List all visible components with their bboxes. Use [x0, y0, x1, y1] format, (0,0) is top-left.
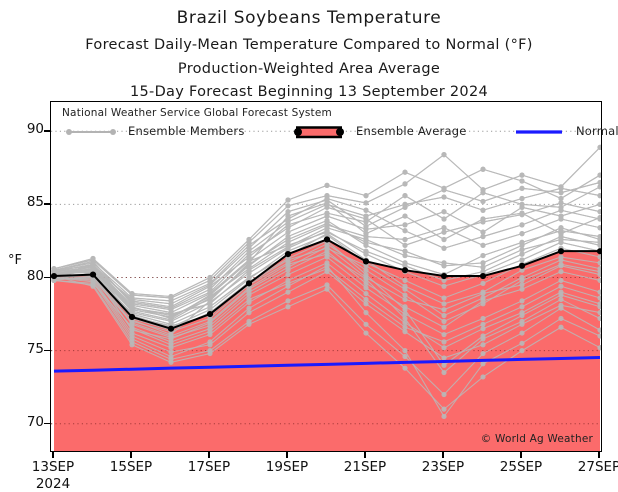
member-point-overlay: [168, 333, 173, 338]
member-point-overlay: [480, 199, 485, 204]
member-point-overlay: [480, 361, 485, 366]
member-point-overlay: [285, 262, 290, 267]
ensemble-average-point: [441, 273, 447, 279]
member-point-overlay: [519, 178, 524, 183]
ensemble-average-point: [207, 311, 213, 317]
ensemble-average-point: [402, 267, 408, 273]
member-point-overlay: [441, 370, 446, 375]
member-point-overlay: [441, 194, 446, 199]
x-tick-mark: [52, 452, 53, 458]
member-point-overlay: [402, 366, 407, 371]
member-point-overlay: [558, 234, 563, 239]
ensemble-average-point: [129, 314, 135, 320]
ensemble-average-point: [324, 236, 330, 242]
member-point-overlay: [363, 200, 368, 205]
member-point-overlay: [558, 257, 563, 262]
chart-canvas: [51, 102, 602, 452]
chart-page: Brazil Soybeans Temperature Forecast Dai…: [0, 0, 618, 488]
member-point-overlay: [246, 271, 251, 276]
member-point-overlay: [597, 193, 602, 198]
x-tick-mark: [130, 452, 131, 458]
member-point-overlay: [285, 209, 290, 214]
y-axis-label: °F: [8, 253, 22, 268]
x-tick-label: 27SEP: [559, 459, 618, 475]
member-point-overlay: [519, 341, 524, 346]
member-point-overlay: [168, 342, 173, 347]
member-point-overlay: [402, 325, 407, 330]
member-point-overlay: [597, 209, 602, 214]
member-point-overlay: [363, 193, 368, 198]
member-point-overlay: [480, 167, 485, 172]
member-point-overlay: [519, 222, 524, 227]
member-point-overlay: [285, 237, 290, 242]
member-point-overlay: [402, 287, 407, 292]
member-point-overlay: [441, 216, 446, 221]
member-point-overlay: [90, 284, 95, 289]
member-point-overlay: [363, 291, 368, 296]
member-point-overlay: [246, 306, 251, 311]
member-point-overlay: [363, 208, 368, 213]
member-point-overlay: [207, 339, 212, 344]
member-point-overlay: [441, 332, 446, 337]
member-point-overlay: [441, 339, 446, 344]
member-point-overlay: [519, 243, 524, 248]
member-point-overlay: [168, 316, 173, 321]
member-point-overlay: [480, 208, 485, 213]
member-point-overlay: [129, 336, 134, 341]
member-point-overlay: [519, 298, 524, 303]
member-point-overlay: [441, 392, 446, 397]
member-point-overlay: [363, 213, 368, 218]
member-point-overlay: [207, 319, 212, 324]
member-point-overlay: [441, 152, 446, 157]
member-point-overlay: [441, 325, 446, 330]
member-point-overlay: [129, 320, 134, 325]
member-point-overlay: [402, 249, 407, 254]
member-point-overlay: [285, 230, 290, 235]
member-point-overlay: [441, 313, 446, 318]
member-point-overlay: [402, 292, 407, 297]
member-point-overlay: [129, 342, 134, 347]
member-point-overlay: [480, 260, 485, 265]
member-point-overlay: [285, 216, 290, 221]
member-point-overlay: [324, 196, 329, 201]
member-point-overlay: [285, 268, 290, 273]
member-point-overlay: [519, 319, 524, 324]
member-point-overlay: [441, 301, 446, 306]
member-point-overlay: [324, 266, 329, 271]
member-point-overlay: [168, 360, 173, 365]
member-point-overlay: [207, 284, 212, 289]
member-point-overlay: [285, 222, 290, 227]
member-point-overlay: [363, 227, 368, 232]
ensemble-average-point: [480, 273, 486, 279]
member-point-overlay: [324, 211, 329, 216]
member-point-overlay: [285, 290, 290, 295]
member-point-overlay: [558, 325, 563, 330]
member-point-overlay: [285, 243, 290, 248]
member-point-overlay: [597, 184, 602, 189]
x-tick-mark: [208, 452, 209, 458]
member-point-overlay: [441, 307, 446, 312]
x-tick-mark: [364, 452, 365, 458]
member-point-overlay: [558, 297, 563, 302]
y-axis-ticks: 7075808590: [4, 0, 44, 488]
member-point-overlay: [441, 237, 446, 242]
member-point-overlay: [363, 322, 368, 327]
member-point-overlay: [441, 263, 446, 268]
member-point-overlay: [441, 407, 446, 412]
member-point-overlay: [129, 298, 134, 303]
member-point-overlay: [480, 336, 485, 341]
member-point-overlay: [558, 186, 563, 191]
member-point-overlay: [246, 259, 251, 264]
member-point-overlay: [480, 190, 485, 195]
member-point-overlay: [168, 354, 173, 359]
y-tick-label: 75: [10, 341, 44, 357]
member-point-overlay: [402, 213, 407, 218]
ensemble-average-point: [168, 326, 174, 332]
member-point-overlay: [519, 275, 524, 280]
member-point-overlay: [597, 173, 602, 178]
member-point-overlay: [324, 183, 329, 188]
x-tick-label: 25SEP: [481, 459, 561, 475]
member-point-overlay: [129, 326, 134, 331]
member-point-overlay: [168, 294, 173, 299]
member-point-overlay: [480, 243, 485, 248]
ensemble-average-point: [285, 251, 291, 257]
member-point-overlay: [402, 193, 407, 198]
member-point-overlay: [285, 298, 290, 303]
x-tick-label: 17SEP: [169, 459, 249, 475]
member-point-overlay: [597, 202, 602, 207]
member-point-overlay: [363, 297, 368, 302]
member-point-overlay: [363, 276, 368, 281]
member-point-overlay: [402, 222, 407, 227]
y-tick-label: 85: [10, 194, 44, 210]
y-tick-label: 90: [10, 121, 44, 137]
subtitle-1: Forecast Daily-Mean Temperature Compared…: [0, 27, 618, 53]
member-point-overlay: [441, 414, 446, 419]
member-point-overlay: [558, 278, 563, 283]
x-tick-label: 21SEP: [325, 459, 405, 475]
member-point-overlay: [441, 246, 446, 251]
member-point-overlay: [324, 287, 329, 292]
member-point-overlay: [324, 221, 329, 226]
member-point-overlay: [519, 348, 524, 353]
ensemble-average-point: [519, 263, 525, 269]
member-point-overlay: [363, 330, 368, 335]
member-point-overlay: [519, 186, 524, 191]
member-point-overlay: [90, 265, 95, 270]
member-point-overlay: [441, 295, 446, 300]
member-point-overlay: [90, 256, 95, 261]
member-point-overlay: [519, 252, 524, 257]
member-point-overlay: [480, 219, 485, 224]
member-point-overlay: [285, 304, 290, 309]
member-point-overlay: [363, 240, 368, 245]
member-point-overlay: [441, 209, 446, 214]
member-point-overlay: [480, 290, 485, 295]
page-title: Brazil Soybeans Temperature: [0, 0, 618, 27]
member-point-overlay: [246, 243, 251, 248]
member-point-overlay: [402, 278, 407, 283]
ensemble-average-point: [363, 258, 369, 264]
member-point-overlay: [402, 316, 407, 321]
member-point-overlay: [519, 330, 524, 335]
member-point-overlay: [168, 304, 173, 309]
member-point-overlay: [558, 306, 563, 311]
member-point-overlay: [402, 304, 407, 309]
member-point-overlay: [324, 202, 329, 207]
ensemble-average-point: [90, 271, 96, 277]
x-tick-mark: [286, 452, 287, 458]
member-point-overlay: [480, 322, 485, 327]
member-point-overlay: [207, 329, 212, 334]
member-point-overlay: [519, 231, 524, 236]
member-point-overlay: [441, 319, 446, 324]
member-point-overlay: [324, 230, 329, 235]
member-point-overlay: [402, 354, 407, 359]
member-point-overlay: [129, 304, 134, 309]
member-point-overlay: [480, 281, 485, 286]
member-point-overlay: [597, 225, 602, 230]
y-tick-label: 80: [10, 268, 44, 284]
member-point-overlay: [441, 345, 446, 350]
member-point-overlay: [480, 316, 485, 321]
member-point-overlay: [519, 304, 524, 309]
member-point-overlay: [324, 252, 329, 257]
member-point-overlay: [519, 257, 524, 262]
subtitle-2: Production-Weighted Area Average: [0, 53, 618, 77]
x-tick-mark: [442, 452, 443, 458]
member-point-overlay: [480, 234, 485, 239]
member-point-overlay: [441, 363, 446, 368]
member-point-overlay: [441, 225, 446, 230]
member-point-overlay: [519, 196, 524, 201]
member-point-overlay: [480, 342, 485, 347]
member-point-overlay: [480, 374, 485, 379]
member-point-overlay: [519, 287, 524, 292]
member-point-overlay: [402, 228, 407, 233]
member-point-overlay: [207, 275, 212, 280]
x-tick-label: 13SEP: [13, 459, 93, 475]
y-tick-label: 70: [10, 414, 44, 430]
member-point-overlay: [363, 310, 368, 315]
member-point-overlay: [402, 202, 407, 207]
member-point-overlay: [519, 173, 524, 178]
member-point-overlay: [207, 292, 212, 297]
member-point-overlay: [519, 202, 524, 207]
ensemble-average-point: [558, 248, 564, 254]
member-point-overlay: [285, 197, 290, 202]
plot-area: © World Ag Weather: [50, 101, 602, 452]
member-point-overlay: [402, 170, 407, 175]
title-block: Brazil Soybeans Temperature Forecast Dai…: [0, 0, 618, 100]
member-point-overlay: [558, 316, 563, 321]
member-point-overlay: [402, 243, 407, 248]
member-point-overlay: [558, 284, 563, 289]
member-point-overlay: [558, 205, 563, 210]
member-point-overlay: [402, 181, 407, 186]
ensemble-average-point: [246, 280, 252, 286]
member-point-overlay: [480, 351, 485, 356]
member-point-overlay: [246, 237, 251, 242]
member-point-overlay: [402, 348, 407, 353]
ensemble-average-point: [51, 273, 57, 279]
member-point-overlay: [402, 237, 407, 242]
member-point-overlay: [519, 212, 524, 217]
member-point-overlay: [129, 291, 134, 296]
member-point-overlay: [558, 225, 563, 230]
member-point-overlay: [246, 322, 251, 327]
x-tick-mark: [598, 452, 599, 458]
x-tick-label: 23SEP: [403, 459, 483, 475]
credit-text: © World Ag Weather: [481, 433, 593, 445]
member-point-overlay: [558, 196, 563, 201]
member-point-overlay: [324, 246, 329, 251]
member-point-overlay: [480, 295, 485, 300]
member-point-overlay: [207, 351, 212, 356]
member-point-overlay: [558, 240, 563, 245]
member-point-overlay: [246, 297, 251, 302]
member-point-overlay: [363, 234, 368, 239]
member-point-overlay: [363, 219, 368, 224]
member-point-overlay: [246, 249, 251, 254]
member-point-overlay: [558, 269, 563, 274]
x-axis-year-label: 2024: [13, 476, 93, 492]
member-point-overlay: [441, 186, 446, 191]
member-point-overlay: [285, 203, 290, 208]
member-point-overlay: [558, 216, 563, 221]
member-point-overlay: [441, 284, 446, 289]
x-tick-mark: [520, 452, 521, 458]
member-point-overlay: [480, 253, 485, 258]
x-tick-label: 19SEP: [247, 459, 327, 475]
member-point-overlay: [363, 249, 368, 254]
subtitle-3: 15-Day Forecast Beginning 13 September 2…: [0, 76, 618, 100]
member-point-overlay: [519, 313, 524, 318]
member-point-overlay: [285, 281, 290, 286]
x-tick-label: 15SEP: [91, 459, 171, 475]
member-point-overlay: [441, 355, 446, 360]
